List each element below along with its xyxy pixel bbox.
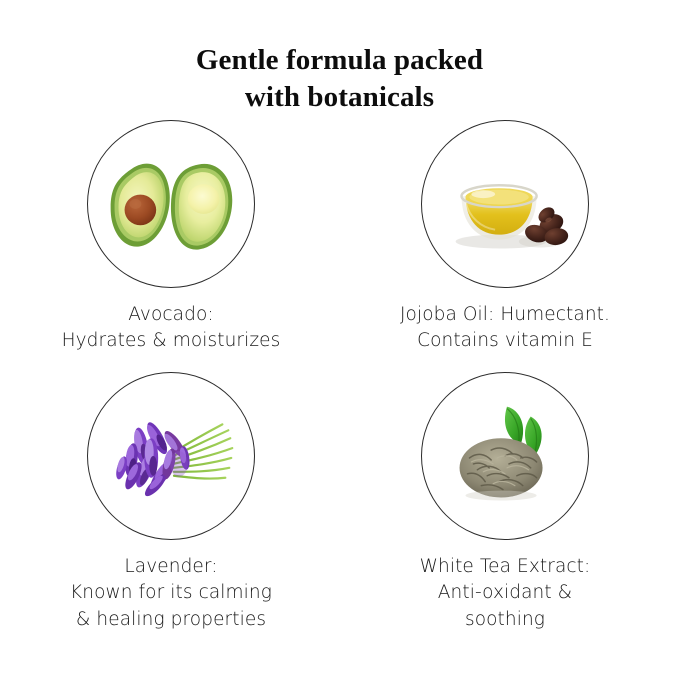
jojoba-oil-bowl-with-seeds-photo	[422, 121, 588, 287]
jojoba-oil-caption-line-1: Jojoba Oil: Humectant.	[355, 302, 655, 328]
jojoba-oil-image-circle	[421, 120, 589, 288]
ingredient-card-lavender: Lavender: Known for its calming & healin…	[21, 372, 321, 633]
avocado-half-left	[111, 164, 170, 247]
ingredient-card-avocado: Avocado: Hydrates & moisturizes	[21, 120, 321, 355]
avocado-image-circle	[87, 120, 255, 288]
lavender-caption-line-3: & healing properties	[21, 607, 321, 633]
avocado-caption-line-1: Avocado:	[21, 302, 321, 328]
ingredient-grid: Avocado: Hydrates & moisturizes	[0, 0, 679, 679]
white-tea-caption-line-2: Anti-oxidant &	[355, 580, 655, 606]
jojoba-oil-caption-line-2: Contains vitamin E	[355, 328, 655, 354]
white-tea-leaves-photo	[422, 373, 588, 539]
lavender-image-circle	[87, 372, 255, 540]
white-tea-caption-line-3: soothing	[355, 607, 655, 633]
ingredient-card-white-tea-extract: White Tea Extract: Anti-oxidant & soothi…	[355, 372, 655, 633]
avocado-halves-photo	[88, 121, 254, 287]
avocado-caption: Avocado: Hydrates & moisturizes	[21, 302, 321, 355]
avocado-caption-line-2: Hydrates & moisturizes	[21, 328, 321, 354]
white-tea-image-circle	[421, 372, 589, 540]
lavender-caption-line-1: Lavender:	[21, 554, 321, 580]
white-tea-caption: White Tea Extract: Anti-oxidant & soothi…	[355, 554, 655, 633]
ingredient-card-jojoba-oil: Jojoba Oil: Humectant. Contains vitamin …	[355, 120, 655, 355]
lavender-bouquet-photo	[88, 373, 254, 539]
lavender-caption-line-2: Known for its calming	[21, 580, 321, 606]
white-tea-caption-line-1: White Tea Extract:	[355, 554, 655, 580]
lavender-caption: Lavender: Known for its calming & healin…	[21, 554, 321, 633]
ingredients-infographic: Gentle formula packed with botanicals	[0, 0, 679, 679]
jojoba-oil-caption: Jojoba Oil: Humectant. Contains vitamin …	[355, 302, 655, 355]
avocado-half-right	[171, 164, 232, 250]
